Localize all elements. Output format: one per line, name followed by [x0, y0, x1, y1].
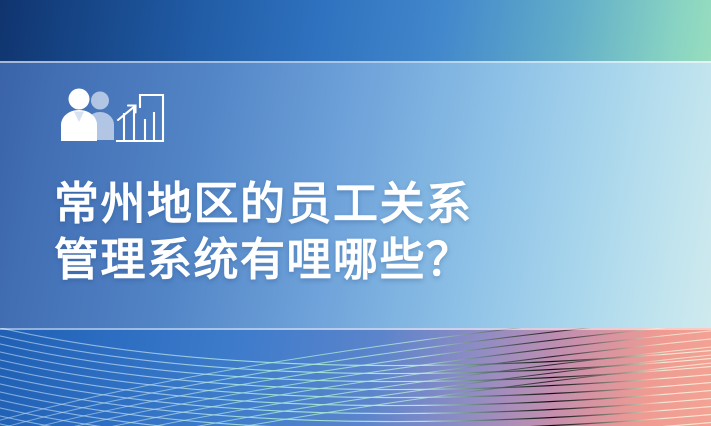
headline-line-2: 管理系统有哩哪些？ [54, 232, 654, 288]
headline-line-1: 常州地区的员工关系 [54, 176, 654, 232]
banner-image: 常州地区的员工关系 管理系统有哩哪些？ [0, 0, 711, 426]
page-title: 常州地区的员工关系 管理系统有哩哪些？ [54, 176, 654, 288]
top-gradient-band [0, 0, 711, 61]
concentric-wave-lines [0, 328, 711, 426]
wave-gradient-band [0, 328, 711, 426]
people-bar-chart-icon-svg [56, 86, 168, 144]
trend-arrow-icon [118, 106, 136, 121]
people-bar-chart-icon [56, 86, 168, 144]
